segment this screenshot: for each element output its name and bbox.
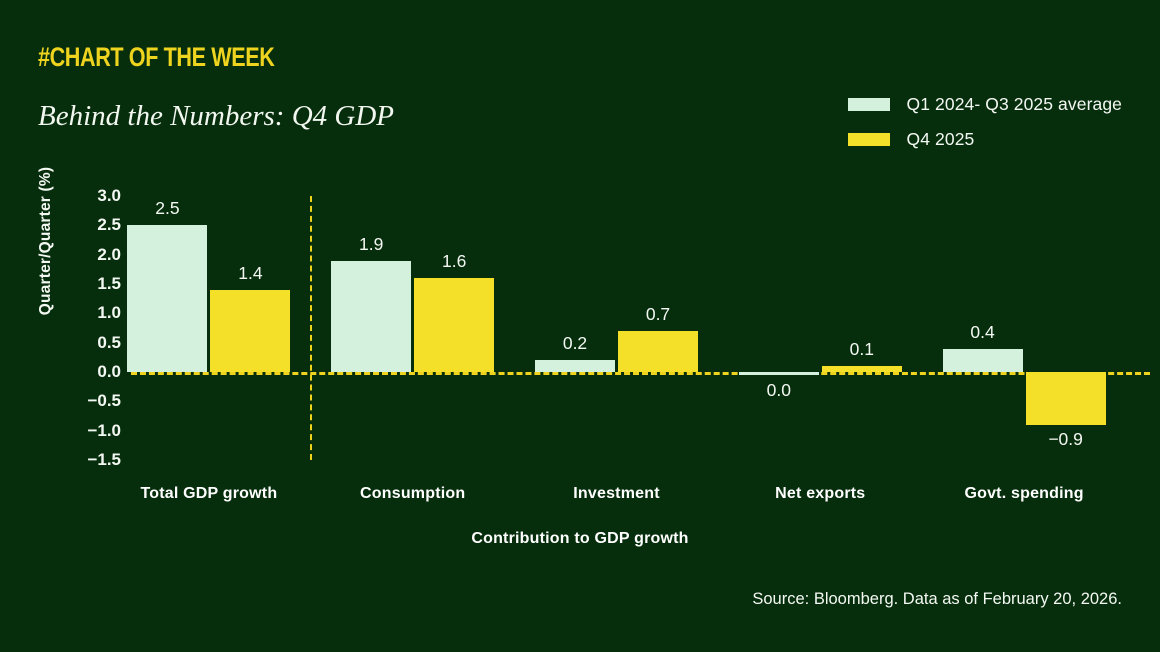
- bar-value-label: −0.9: [1048, 429, 1083, 450]
- bar[interactable]: [127, 225, 207, 372]
- x-category-label: Net exports: [775, 485, 865, 503]
- bar-value-label: 1.6: [442, 251, 466, 272]
- bar[interactable]: [210, 290, 290, 372]
- y-axis-ticks: 3.02.52.01.51.00.50.0−0.5−1.0−1.5: [48, 196, 121, 460]
- x-category-label: Consumption: [360, 485, 465, 503]
- source-note: Source: Bloomberg. Data as of February 2…: [752, 590, 1122, 609]
- bar-value-label: 0.7: [646, 304, 670, 325]
- chart-canvas: Quarter/Quarter (%) 3.02.52.01.51.00.50.…: [0, 0, 1160, 652]
- y-tick-label: 1.0: [51, 303, 121, 323]
- bar-value-label: 1.4: [238, 263, 262, 284]
- bar[interactable]: [1026, 372, 1106, 425]
- bar[interactable]: [618, 331, 698, 372]
- y-tick-label: 0.0: [51, 362, 121, 382]
- plot-area: 2.51.41.91.60.20.70.00.10.4−0.9: [131, 196, 1150, 460]
- bar[interactable]: [822, 366, 902, 372]
- y-tick-label: 0.5: [51, 333, 121, 353]
- x-category-label: Govt. spending: [964, 485, 1083, 503]
- x-category-label: Investment: [573, 485, 659, 503]
- x-axis-title: Contribution to GDP growth: [0, 530, 1160, 548]
- bar[interactable]: [739, 372, 819, 375]
- bar[interactable]: [943, 349, 1023, 372]
- bar-value-label: 0.4: [970, 322, 994, 343]
- bar[interactable]: [414, 278, 494, 372]
- y-tick-label: 2.0: [51, 245, 121, 265]
- y-tick-label: 2.5: [51, 215, 121, 235]
- bar[interactable]: [535, 360, 615, 372]
- x-category-label: Total GDP growth: [140, 485, 277, 503]
- bar-value-label: 0.2: [563, 333, 587, 354]
- group-separator: [310, 196, 312, 460]
- y-tick-label: −0.5: [51, 391, 121, 411]
- zero-baseline: [131, 372, 1150, 375]
- bar-value-label: 0.1: [850, 339, 874, 360]
- bar-value-label: 1.9: [359, 234, 383, 255]
- bar[interactable]: [331, 261, 411, 372]
- bar-value-label: 2.5: [155, 198, 179, 219]
- y-tick-label: 3.0: [51, 186, 121, 206]
- bar-value-label: 0.0: [767, 380, 791, 401]
- y-tick-label: 1.5: [51, 274, 121, 294]
- y-tick-label: −1.0: [51, 421, 121, 441]
- y-tick-label: −1.5: [51, 450, 121, 470]
